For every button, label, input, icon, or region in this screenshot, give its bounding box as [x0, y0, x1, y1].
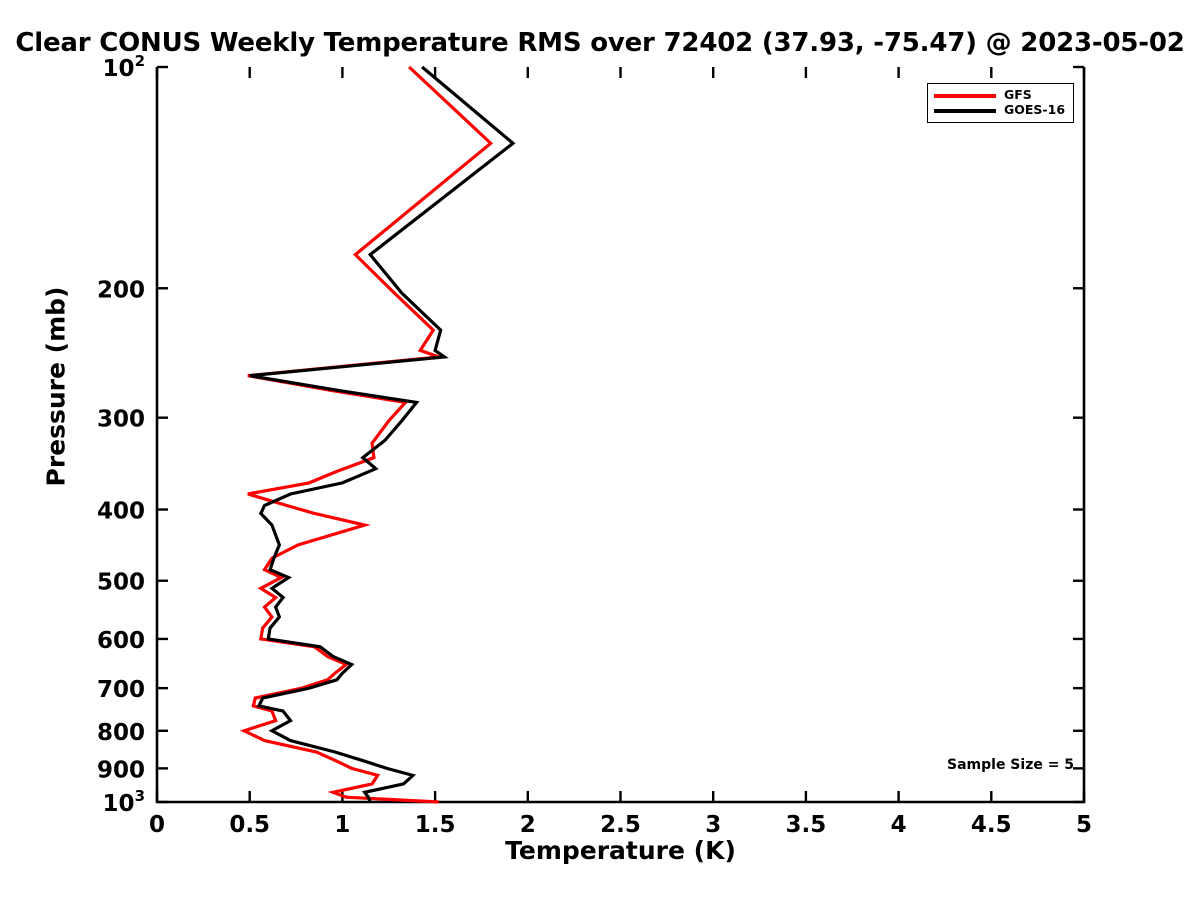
legend-swatch-goes16	[934, 109, 996, 113]
svg-text:900: 900	[97, 757, 145, 783]
series-line-gfs	[244, 67, 491, 802]
legend-swatch-gfs	[934, 94, 996, 98]
data-series-group	[244, 67, 513, 802]
svg-text:0: 0	[149, 812, 165, 838]
svg-text:200: 200	[97, 277, 145, 303]
svg-text:5: 5	[1076, 812, 1092, 838]
svg-text:700: 700	[97, 677, 145, 703]
series-line-goes-16	[250, 67, 513, 802]
svg-text:800: 800	[97, 720, 145, 746]
legend-label-gfs: GFS	[1004, 89, 1032, 102]
svg-text:300: 300	[97, 407, 145, 433]
svg-text:2.5: 2.5	[600, 812, 641, 838]
legend-item-gfs: GFS	[934, 88, 1067, 103]
legend-item-goes16: GOES-16	[934, 103, 1067, 118]
svg-text:500: 500	[97, 570, 145, 596]
svg-text:102: 102	[103, 52, 145, 82]
svg-text:4: 4	[891, 812, 907, 838]
legend-label-goes16: GOES-16	[1004, 104, 1065, 117]
sample-size-annotation: Sample Size = 5	[947, 757, 1074, 773]
svg-text:103: 103	[103, 787, 145, 817]
svg-text:0.5: 0.5	[229, 812, 270, 838]
chart-figure: Clear CONUS Weekly Temperature RMS over …	[0, 0, 1200, 900]
svg-text:400: 400	[97, 499, 145, 525]
svg-text:3.5: 3.5	[786, 812, 827, 838]
svg-text:4.5: 4.5	[971, 812, 1012, 838]
svg-text:2: 2	[520, 812, 536, 838]
x-axis-title: Temperature (K)	[157, 836, 1084, 865]
axis-tick-labels: 00.511.522.533.544.551022003004005006007…	[97, 52, 1092, 838]
svg-text:1.5: 1.5	[415, 812, 456, 838]
svg-text:3: 3	[705, 812, 721, 838]
svg-text:1: 1	[334, 812, 350, 838]
svg-text:600: 600	[97, 628, 145, 654]
y-axis-title: Pressure (mb)	[42, 267, 71, 507]
legend: GFS GOES-16	[927, 83, 1074, 123]
